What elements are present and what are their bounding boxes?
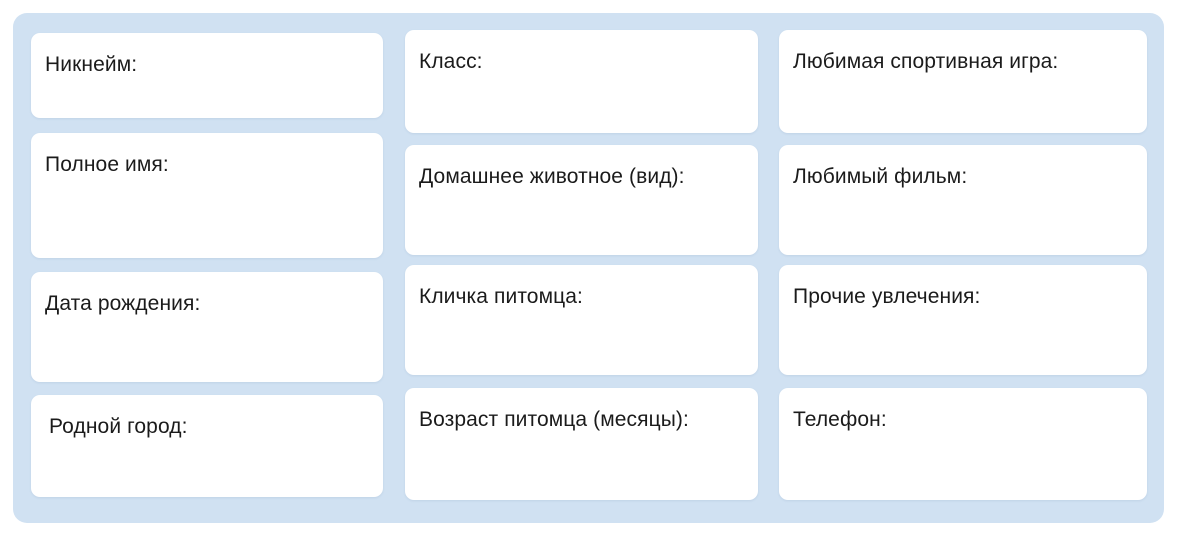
field-label-nickname: Никнейм:: [45, 52, 137, 78]
field-label-pet-species: Домашнее животное (вид):: [419, 164, 685, 190]
field-card-pet-species[interactable]: Домашнее животное (вид):: [405, 145, 758, 255]
field-card-class[interactable]: Класс:: [405, 30, 758, 133]
field-label-phone: Телефон:: [793, 407, 887, 433]
field-label-class: Класс:: [419, 49, 483, 75]
field-label-pet-age: Возраст питомца (месяцы):: [419, 407, 689, 433]
field-card-pet-name[interactable]: Кличка питомца:: [405, 265, 758, 375]
field-card-phone[interactable]: Телефон:: [779, 388, 1147, 500]
field-card-pet-age[interactable]: Возраст питомца (месяцы):: [405, 388, 758, 500]
field-card-favorite-movie[interactable]: Любимый фильм:: [779, 145, 1147, 255]
field-label-full-name: Полное имя:: [45, 152, 169, 178]
field-label-favorite-movie: Любимый фильм:: [793, 164, 967, 190]
field-card-full-name[interactable]: Полное имя:: [31, 133, 383, 258]
field-card-home-town[interactable]: Родной город:: [31, 395, 383, 497]
field-label-favorite-sport: Любимая спортивная игра:: [793, 49, 1058, 75]
field-card-favorite-sport[interactable]: Любимая спортивная игра:: [779, 30, 1147, 133]
field-label-other-hobbies: Прочие увлечения:: [793, 284, 980, 310]
field-card-other-hobbies[interactable]: Прочие увлечения:: [779, 265, 1147, 375]
field-label-home-town: Родной город:: [49, 414, 188, 440]
field-label-birth-date: Дата рождения:: [45, 291, 200, 317]
field-card-birth-date[interactable]: Дата рождения:: [31, 272, 383, 382]
field-label-pet-name: Кличка питомца:: [419, 284, 583, 310]
field-card-nickname[interactable]: Никнейм:: [31, 33, 383, 118]
questionnaire-panel: Никнейм: Полное имя: Дата рождения: Родн…: [13, 13, 1164, 523]
